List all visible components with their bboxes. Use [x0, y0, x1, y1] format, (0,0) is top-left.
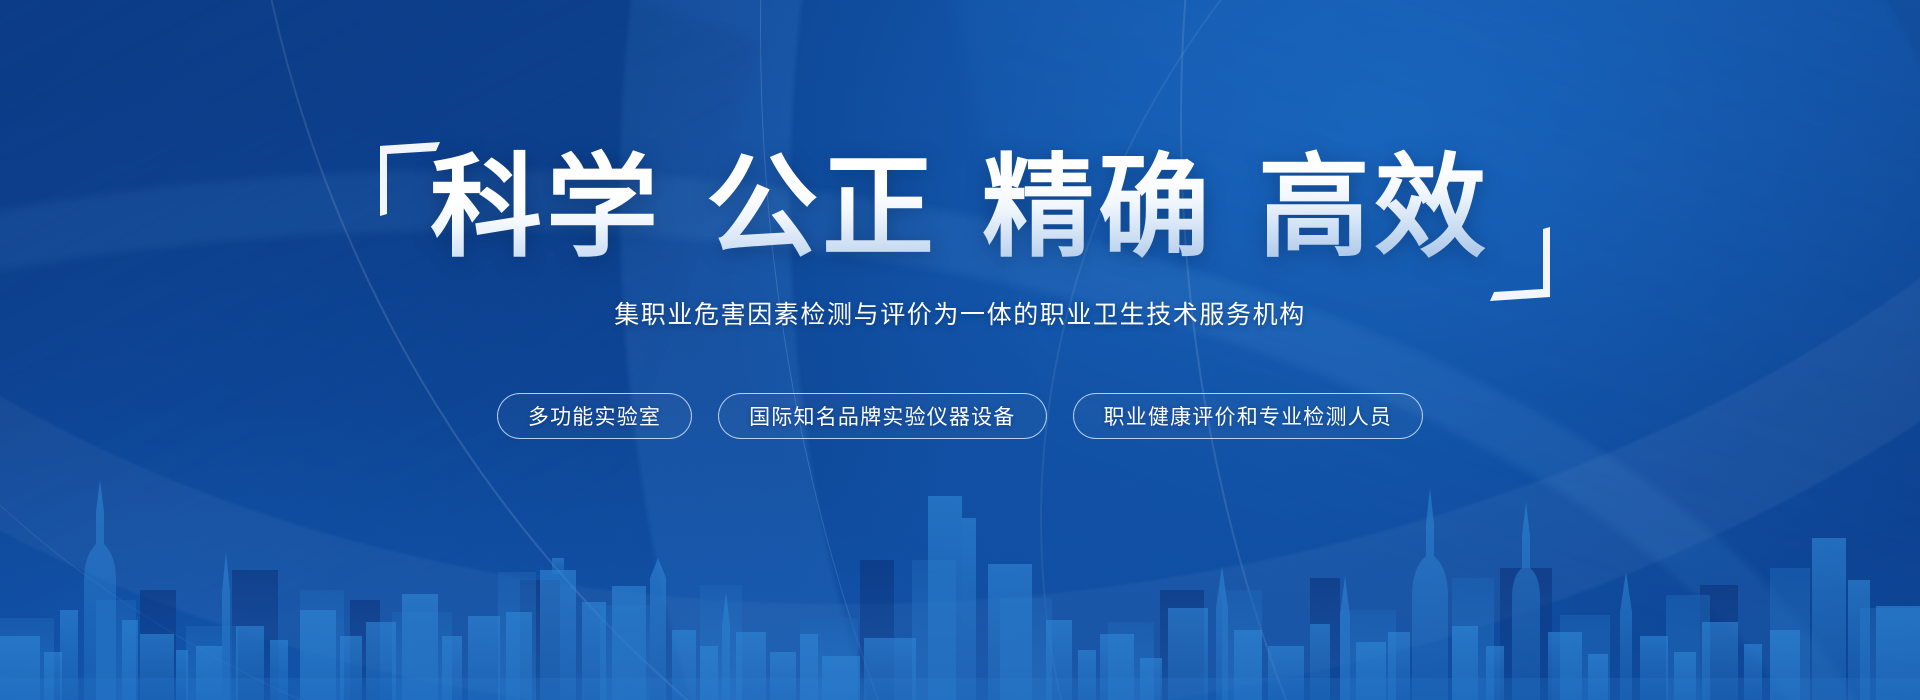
hero-banner: 科学公正精确高效 集职业危害因素检测与评价为一体的职业卫生技术服务机构 多功能实…	[0, 0, 1920, 700]
headline-word-1: 科学	[430, 145, 662, 270]
feature-pill-equipment[interactable]: 国际知名品牌实验仪器设备	[718, 393, 1046, 439]
feature-pill-staff-label: 职业健康评价和专业检测人员	[1104, 401, 1393, 431]
feature-pill-list: 多功能实验室 国际知名品牌实验仪器设备 职业健康评价和专业检测人员	[497, 393, 1423, 439]
headline-word-3: 精确	[982, 145, 1214, 270]
feature-pill-staff[interactable]: 职业健康评价和专业检测人员	[1073, 393, 1424, 439]
banner-content: 科学公正精确高效 集职业危害因素检测与评价为一体的职业卫生技术服务机构 多功能实…	[0, 0, 1920, 700]
feature-pill-lab[interactable]: 多功能实验室	[497, 393, 692, 439]
feature-pill-equipment-label: 国际知名品牌实验仪器设备	[749, 401, 1015, 431]
feature-pill-lab-label: 多功能实验室	[528, 401, 661, 431]
banner-subtitle: 集职业危害因素检测与评价为一体的职业卫生技术服务机构	[614, 295, 1306, 331]
headline-word-2: 公正	[706, 145, 938, 270]
page-title: 科学公正精确高效	[430, 148, 1490, 269]
quote-bracket-close-icon	[1488, 225, 1552, 303]
headline-block: 科学公正精确高效	[374, 148, 1546, 269]
headline-word-4: 高效	[1258, 145, 1490, 270]
